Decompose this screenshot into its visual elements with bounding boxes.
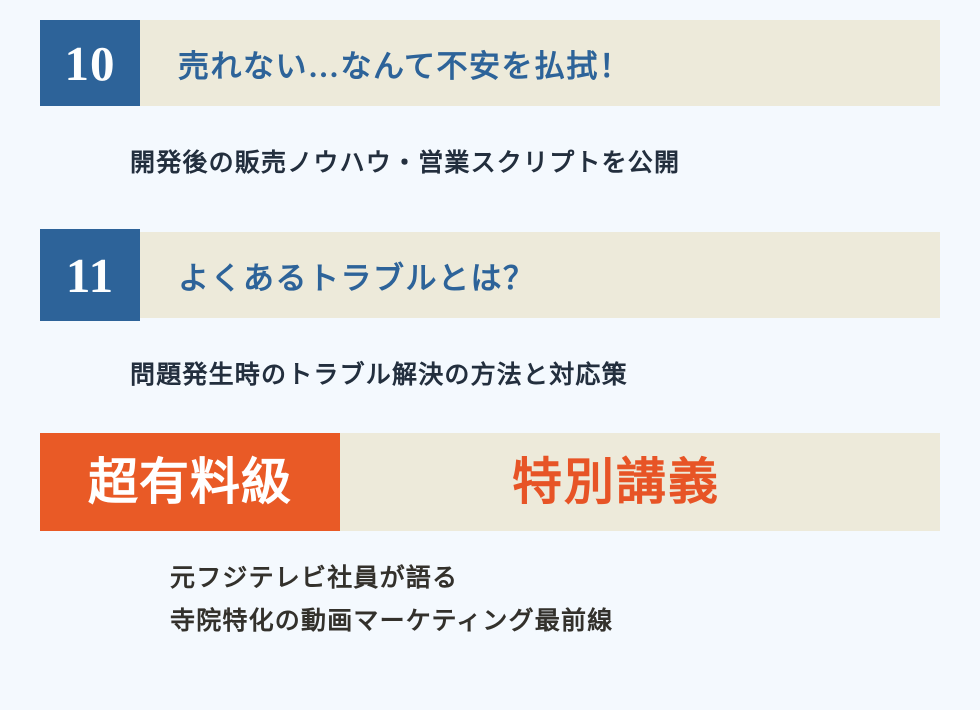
curriculum-row-10-subtitle: 開発後の販売ノウハウ・営業スクリプトを公開 [130,143,680,179]
special-lecture-title-wrap: 特別講義 [340,433,940,531]
special-lecture-bar: 超有料級 特別講義 [40,433,940,531]
special-lecture-subtitle: 元フジテレビ社員が語る 寺院特化の動画マーケティング最前線 [170,557,613,643]
curriculum-row-10-bar: 10 売れない…なんて不安を払拭！ [40,20,940,106]
curriculum-section: 10 売れない…なんて不安を払拭！ 開発後の販売ノウハウ・営業スクリプトを公開 … [0,0,980,710]
curriculum-row-10-number-box: 10 [40,20,140,106]
curriculum-row-11-number: 11 [66,251,114,300]
curriculum-row-10-number: 10 [65,39,116,88]
curriculum-row-10-title: 売れない…なんて不安を払拭！ [140,20,940,106]
special-lecture-badge-label: 超有料級 [88,457,292,507]
special-lecture-badge: 超有料級 [40,433,340,531]
curriculum-row-11-title: よくあるトラブルとは？ [140,232,940,318]
curriculum-row-11-bar: 11 よくあるトラブルとは？ [40,232,940,318]
special-lecture-row: 超有料級 特別講義 [40,433,940,531]
special-lecture-title: 特別講義 [512,457,720,507]
curriculum-row-11-subtitle: 問題発生時のトラブル解決の方法と対応策 [130,355,628,391]
curriculum-row-11-number-box: 11 [40,229,140,321]
curriculum-row-11: 11 よくあるトラブルとは？ [40,232,940,318]
special-lecture-subtitle-line-1: 元フジテレビ社員が語る [170,557,613,600]
curriculum-row-10: 10 売れない…なんて不安を払拭！ [40,20,940,106]
special-lecture-subtitle-line-2: 寺院特化の動画マーケティング最前線 [170,600,613,643]
